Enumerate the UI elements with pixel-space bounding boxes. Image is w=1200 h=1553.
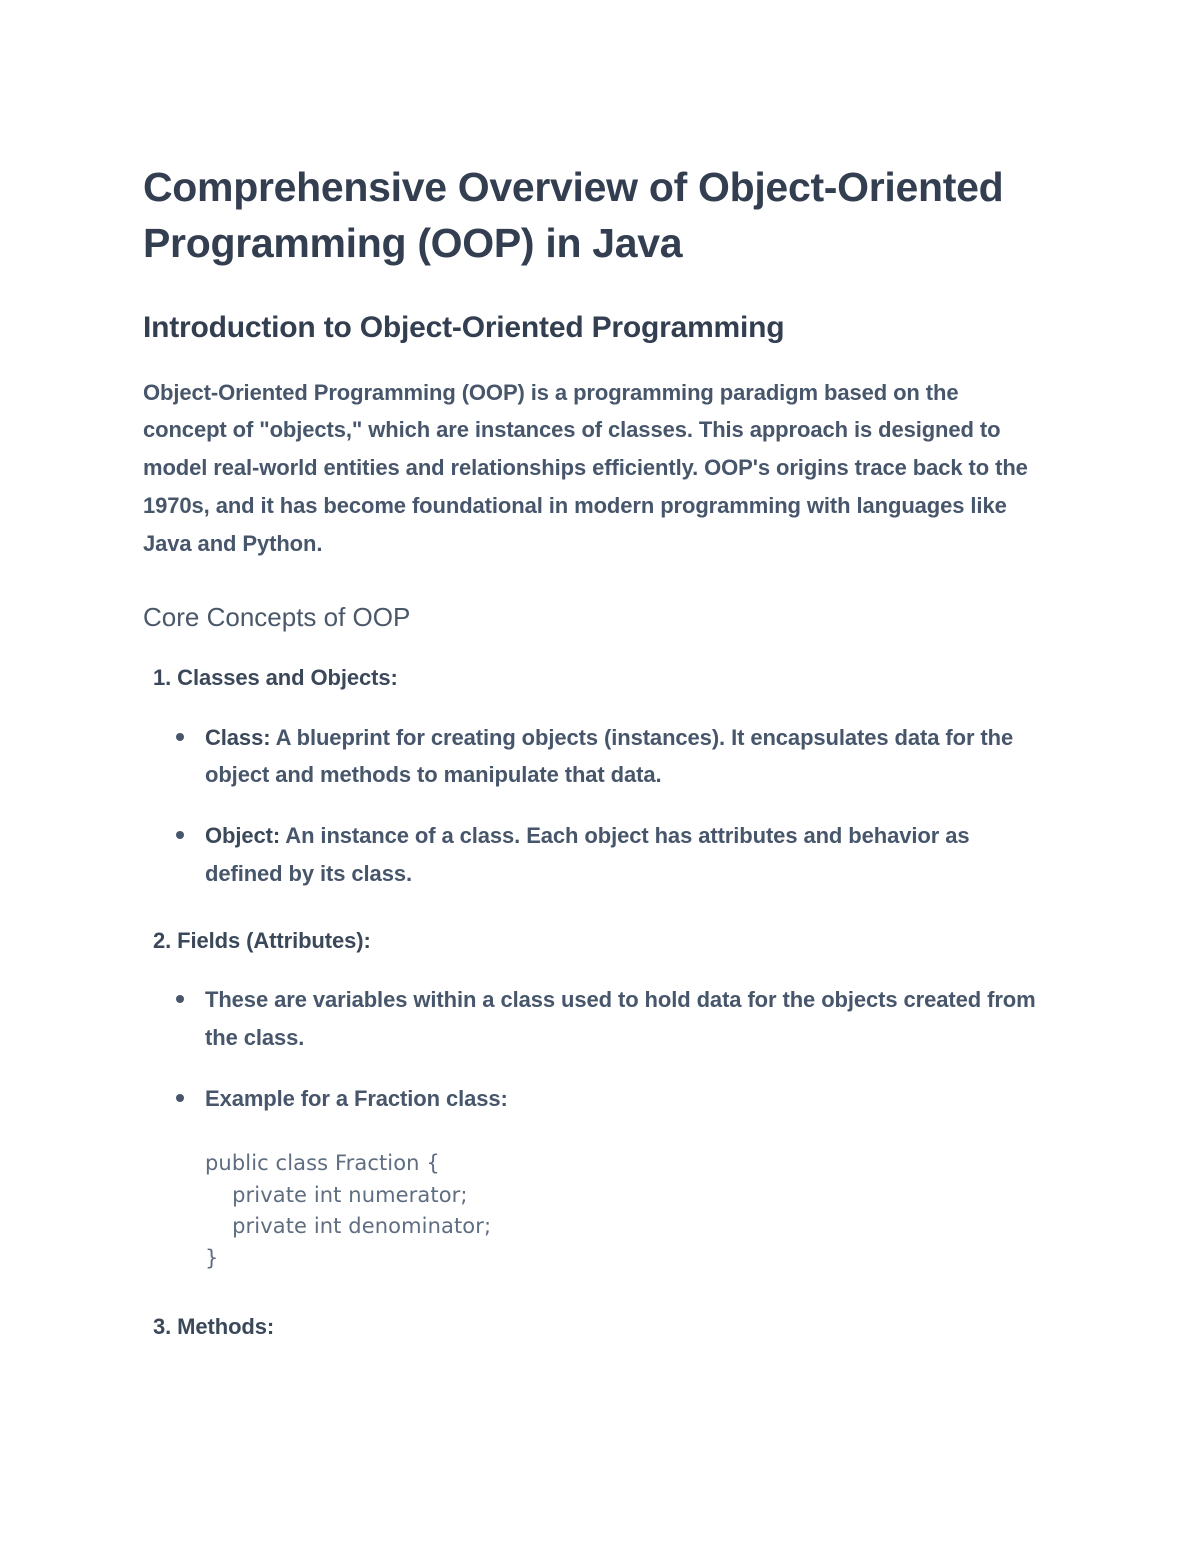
bullet-text-object: An instance of a class. Each object has … [205,823,969,886]
bullet-lead-class: Class: [205,725,270,750]
code-block-fraction-class: public class Fraction { private int nume… [205,1148,1045,1276]
bullet-list-classes-objects: Class: A blueprint for creating objects … [143,719,1045,893]
list-item-fields-attributes: 2. Fields (Attributes): These are variab… [143,923,1045,1275]
intro-paragraph: Object-Oriented Programming (OOP) is a p… [143,374,1045,563]
core-concepts-list: 1. Classes and Objects: Class: A bluepri… [143,660,1045,1344]
numbered-item-heading: 2. Fields (Attributes): [153,923,1045,958]
list-item-classes-and-objects: 1. Classes and Objects: Class: A bluepri… [143,660,1045,893]
list-item: These are variables within a class used … [143,981,1045,1057]
list-item: Example for a Fraction class: [143,1080,1045,1118]
list-marker-2: 2. [153,928,171,953]
list-item-methods: 3. Methods: [143,1309,1045,1344]
list-marker-3: 3. [153,1314,171,1339]
bullet-list-fields: These are variables within a class used … [143,981,1045,1117]
list-marker-1: 1. [153,665,171,690]
bullet-text-class: A blueprint for creating objects (instan… [205,725,1013,788]
bullet-lead-object: Object: [205,823,280,848]
list-item: Object: An instance of a class. Each obj… [143,817,1045,893]
numbered-item-label: Methods: [177,1314,274,1339]
bullet-text-example: Example for a Fraction class: [205,1086,508,1111]
list-item: Class: A blueprint for creating objects … [143,719,1045,795]
numbered-item-heading: 3. Methods: [153,1309,1045,1344]
document-page: Comprehensive Overview of Object-Oriente… [0,0,1200,1553]
section-heading-introduction: Introduction to Object-Oriented Programm… [143,308,1045,347]
subsection-heading-core-concepts: Core Concepts of OOP [143,601,1045,635]
numbered-item-label: Fields (Attributes): [177,928,371,953]
page-title: Comprehensive Overview of Object-Oriente… [143,160,1023,272]
numbered-item-heading: 1. Classes and Objects: [153,660,1045,695]
bullet-text-variables: These are variables within a class used … [205,987,1036,1050]
numbered-item-label: Classes and Objects: [177,665,398,690]
